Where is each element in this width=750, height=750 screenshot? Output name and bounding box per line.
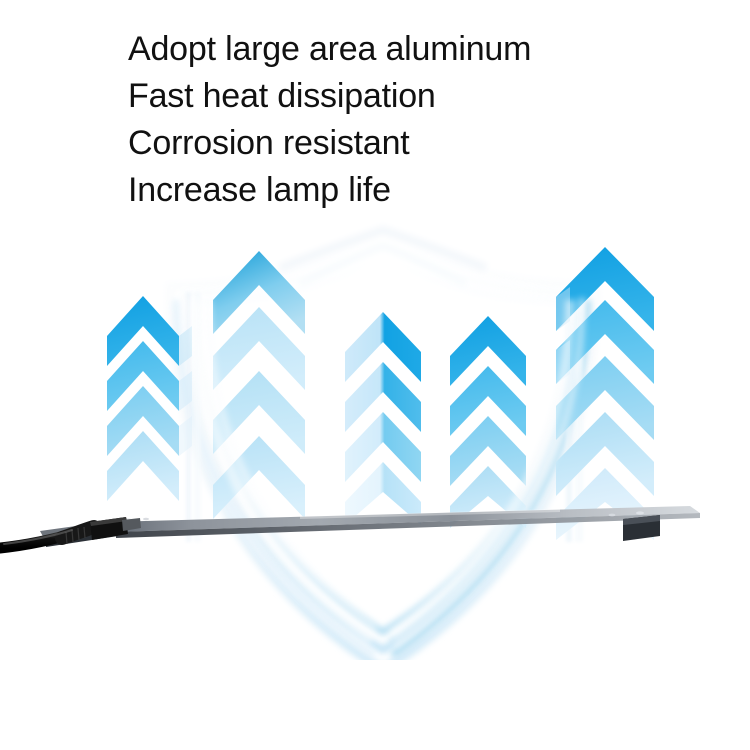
- feature-line-2: Fast heat dissipation: [128, 73, 648, 120]
- feature-text-block: Adopt large area aluminum Fast heat diss…: [128, 26, 648, 214]
- power-cable-group: [0, 517, 141, 548]
- arrow-column-2: [213, 251, 305, 519]
- arrow-column-3: [345, 312, 421, 525]
- bottom-fade: [0, 660, 750, 750]
- feature-line-4: Increase lamp life: [128, 167, 648, 214]
- feature-line-1: Adopt large area aluminum: [128, 26, 648, 73]
- product-feature-graphic: Adopt large area aluminum Fast heat diss…: [0, 0, 750, 750]
- feature-line-3: Corrosion resistant: [128, 120, 648, 167]
